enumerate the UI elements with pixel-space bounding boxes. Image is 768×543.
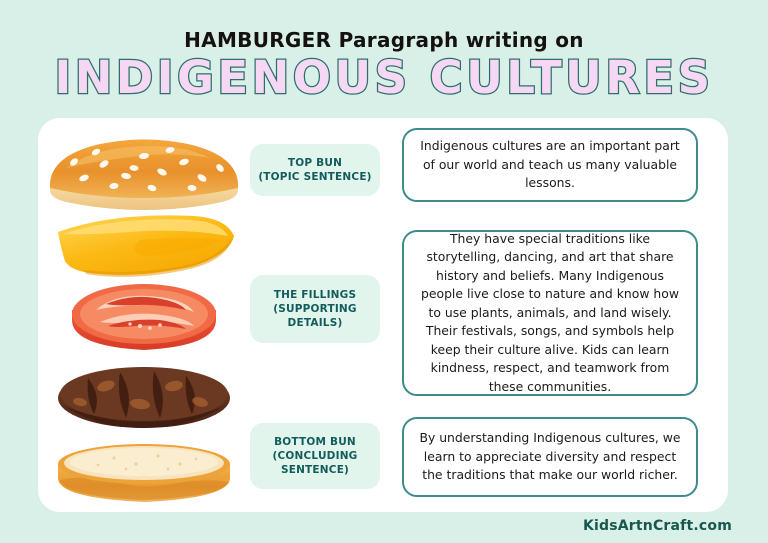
- brand-watermark: KidsArtnCraft.com: [583, 518, 732, 534]
- text-box-supporting-details[interactable]: They have special traditions like storyt…: [402, 230, 698, 396]
- page-title: INDIGENOUS CULTURES: [0, 52, 768, 104]
- supporting-details-text: They have special traditions like storyt…: [415, 230, 685, 397]
- label-top-bun-text: TOP BUN (TOPIC SENTENCE): [258, 156, 371, 184]
- label-fillings[interactable]: THE FILLINGS (SUPPORTING DETAILS): [250, 275, 380, 343]
- text-box-concluding-sentence[interactable]: By understanding Indigenous cultures, we…: [402, 417, 698, 497]
- text-box-topic-sentence[interactable]: Indigenous cultures are an important par…: [402, 128, 698, 202]
- hamburger-illustration-column: [44, 118, 254, 512]
- page-footer: KidsArtnCraft.com: [0, 512, 768, 543]
- label-bottom-bun[interactable]: BOTTOM BUN (CONCLUDING SENTENCE): [250, 423, 380, 489]
- header-subtitle: HAMBURGER Paragraph writing on: [0, 28, 768, 52]
- cheese-slice-illustration: [44, 210, 244, 282]
- label-bottom-bun-text: BOTTOM BUN (CONCLUDING SENTENCE): [273, 435, 358, 477]
- topic-sentence-text: Indigenous cultures are an important par…: [415, 137, 685, 193]
- meat-patty-illustration: [44, 356, 244, 436]
- tomato-slice-illustration: [44, 274, 244, 358]
- top-bun-illustration: [44, 134, 244, 214]
- bottom-bun-illustration: [44, 434, 244, 506]
- content-card: TOP BUN (TOPIC SENTENCE) THE FILLINGS (S…: [38, 118, 728, 512]
- label-fillings-text: THE FILLINGS (SUPPORTING DETAILS): [273, 288, 357, 330]
- page-header: HAMBURGER Paragraph writing on INDIGENOU…: [0, 0, 768, 118]
- concluding-sentence-text: By understanding Indigenous cultures, we…: [415, 429, 685, 485]
- label-top-bun[interactable]: TOP BUN (TOPIC SENTENCE): [250, 144, 380, 196]
